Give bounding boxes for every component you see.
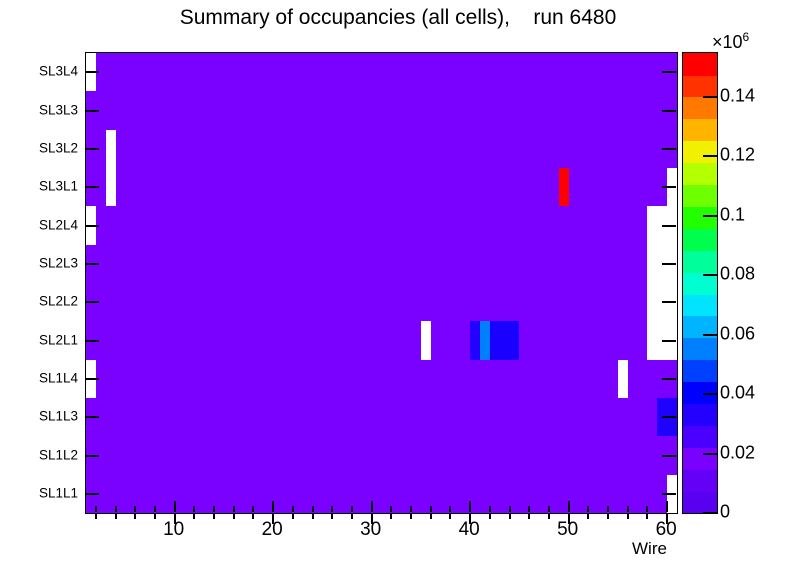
colorbar-band [683,97,717,120]
y-axis-tick [85,225,99,227]
y-axis-tick-label-sl3l4: SL3L4 [39,64,78,79]
colorbar-exponent-base: ×10 [712,32,743,52]
x-axis-tick [489,513,491,519]
x-axis-tick-mirror [371,501,373,512]
x-axis-tick-label-60: 60 [656,519,677,541]
x-axis-tick-mirror [548,506,550,512]
colorbar-band [683,447,717,470]
y-axis-tick [85,416,99,418]
colorbar-tick-label-1: 0.02 [720,442,755,463]
heatmap-cell-empty [106,130,116,168]
x-axis-tick-mirror [528,506,530,512]
x-axis-tick [607,513,609,519]
x-axis-tick [410,513,412,519]
x-axis-tick-mirror [154,506,156,512]
y-axis-tick-label-sl1l4: SL1L4 [39,370,78,385]
y-axis-tick-mirror [662,378,676,380]
colorbar-band [683,250,717,273]
heatmap-cell-empty [647,245,657,283]
y-axis-tick [85,148,99,150]
x-axis-tick [115,513,117,519]
colorbar-band [683,119,717,142]
x-axis-tick-mirror [509,506,511,512]
heatmap-cell-empty [421,321,431,359]
heatmap-cell-background [86,53,677,513]
x-axis-tick-label-20: 20 [262,519,283,541]
x-axis-tick-mirror [272,501,274,512]
y-axis-tick-label-sl2l2: SL2L2 [39,294,78,309]
y-axis-labels: SL1L1SL1L2SL1L3SL1L4SL2L1SL2L2SL2L3SL2L4… [0,52,78,512]
x-axis-tick-label-40: 40 [459,519,480,541]
x-axis-tick-mirror [627,506,629,512]
x-axis-tick-mirror [430,506,432,512]
y-axis-tick-mirror [662,71,676,73]
colorbar[interactable] [682,52,718,514]
x-axis-tick [548,513,550,519]
x-axis-tick [528,513,530,519]
colorbar-tick [703,155,717,157]
colorbar-band [683,75,717,98]
colorbar-tick-label-4: 0.08 [720,264,755,285]
y-axis-tick-label-sl1l2: SL1L2 [39,447,78,462]
colorbar-band [683,228,717,251]
root-canvas: Summary of occupancies (all cells), run … [0,0,796,572]
colorbar-tick-label-5: 0.1 [720,204,745,225]
heatmap-cell-empty [647,283,657,321]
colorbar-band [683,469,717,492]
x-axis-tick [351,513,353,519]
y-axis-tick-label-sl2l3: SL2L3 [39,255,78,270]
y-axis-tick-mirror [662,455,676,457]
heatmap-cell-empty [106,168,116,206]
y-axis-tick-label-sl2l4: SL2L4 [39,217,78,232]
colorbar-band [683,206,717,229]
heatmap-cell-empty [618,360,628,398]
x-axis-tick [312,513,314,519]
heatmap-cell-highlight [480,321,490,359]
x-axis-tick [430,513,432,519]
y-axis-tick-mirror [662,416,676,418]
y-axis-tick-mirror [662,301,676,303]
heatmap-cell-highlight [510,321,520,359]
heatmap-cells [86,53,677,513]
x-axis-tick-mirror [351,506,353,512]
page-title: Summary of occupancies (all cells), run … [0,6,796,30]
x-axis-tick [390,513,392,519]
colorbar-band [683,338,717,361]
x-axis-tick-label-30: 30 [360,519,381,541]
y-axis-tick-mirror [662,493,676,495]
colorbar-tick-label-7: 0.14 [720,85,755,106]
y-axis-tick [85,455,99,457]
heatmap-cell-empty [647,321,657,359]
x-axis-tick [134,513,136,519]
heatmap-cell-highlight [490,321,500,359]
colorbar-tick [703,453,717,455]
x-axis-tick [646,513,648,519]
y-axis-tick-label-sl2l1: SL2L1 [39,332,78,347]
heatmap-plot-area[interactable] [85,52,678,514]
x-axis-tick-mirror [193,506,195,512]
colorbar-tick-label-6: 0.12 [720,145,755,166]
x-axis-tick-mirror [568,501,570,512]
y-axis-tick-label-sl3l1: SL3L1 [39,179,78,194]
colorbar-tick [703,215,717,217]
y-axis-tick [85,340,99,342]
x-axis-tick-mirror [587,506,589,512]
y-axis-tick [85,110,99,112]
colorbar-band [683,360,717,383]
heatmap-cell-highlight [559,168,569,206]
colorbar-band [683,425,717,448]
colorbar-tick-label-3: 0.06 [720,323,755,344]
y-axis-tick [85,301,99,303]
y-axis-tick [85,186,99,188]
x-axis-tick-label-50: 50 [557,519,578,541]
colorbar-band [683,184,717,207]
colorbar-band [683,491,717,514]
colorbar-band [683,141,717,164]
x-axis-tick-mirror [646,506,648,512]
x-axis-tick-mirror [312,506,314,512]
y-axis-tick-mirror [662,263,676,265]
x-axis-tick-mirror [213,506,215,512]
x-axis-tick-mirror [390,506,392,512]
x-axis-tick-label-10: 10 [163,519,184,541]
y-axis-tick [85,71,99,73]
heatmap-cell-highlight [500,321,510,359]
colorbar-tick [703,334,717,336]
x-axis-tick [292,513,294,519]
colorbar-tick-label-2: 0.04 [720,383,755,404]
heatmap-cell-empty [647,206,657,244]
x-axis-tick [449,513,451,519]
x-axis-tick [154,513,156,519]
y-axis-tick-mirror [662,225,676,227]
colorbar-tick [703,96,717,98]
colorbar-band [683,403,717,426]
colorbar-tick-label-0: 0 [720,502,730,523]
x-axis-tick [213,513,215,519]
y-axis-tick [85,378,99,380]
colorbar-tick [703,393,717,395]
x-axis-tick-mirror [410,506,412,512]
colorbar-tick [703,274,717,276]
colorbar-exponent-power: 6 [743,30,750,44]
y-axis-tick-label-sl3l3: SL3L3 [39,102,78,117]
x-axis-tick-mirror [252,506,254,512]
x-axis-tick-mirror [292,506,294,512]
x-axis-tick-mirror [134,506,136,512]
colorbar-band [683,53,717,76]
x-axis-tick-mirror [95,506,97,512]
x-axis-tick-mirror [489,506,491,512]
x-axis-tick-mirror [449,506,451,512]
y-axis-tick-mirror [662,340,676,342]
x-axis-tick [587,513,589,519]
x-axis-tick [193,513,195,519]
x-axis-tick [627,513,629,519]
x-axis-tick-mirror [469,501,471,512]
y-axis-tick-label-sl1l1: SL1L1 [39,485,78,500]
y-axis-tick-mirror [662,148,676,150]
x-axis-tick [509,513,511,519]
x-axis-tick [233,513,235,519]
colorbar-band [683,294,717,317]
y-axis-tick-mirror [662,186,676,188]
x-axis-tick-mirror [331,506,333,512]
x-axis-tick-mirror [115,506,117,512]
x-axis-tick [252,513,254,519]
x-axis-title: Wire [632,539,667,559]
x-axis-tick [331,513,333,519]
x-axis-tick-mirror [666,501,668,512]
y-axis-tick-label-sl3l2: SL3L2 [39,140,78,155]
x-axis-tick-mirror [607,506,609,512]
y-axis-tick-label-sl1l3: SL1L3 [39,409,78,424]
y-axis-tick [85,263,99,265]
x-axis-tick-mirror [233,506,235,512]
x-axis-tick [95,513,97,519]
colorbar-band [683,163,717,186]
x-axis-tick-mirror [174,501,176,512]
colorbar-tick [703,512,717,514]
colorbar-exponent: ×106 [712,30,749,53]
y-axis-tick [85,493,99,495]
heatmap-cell-highlight [470,321,480,359]
y-axis-tick-mirror [662,110,676,112]
